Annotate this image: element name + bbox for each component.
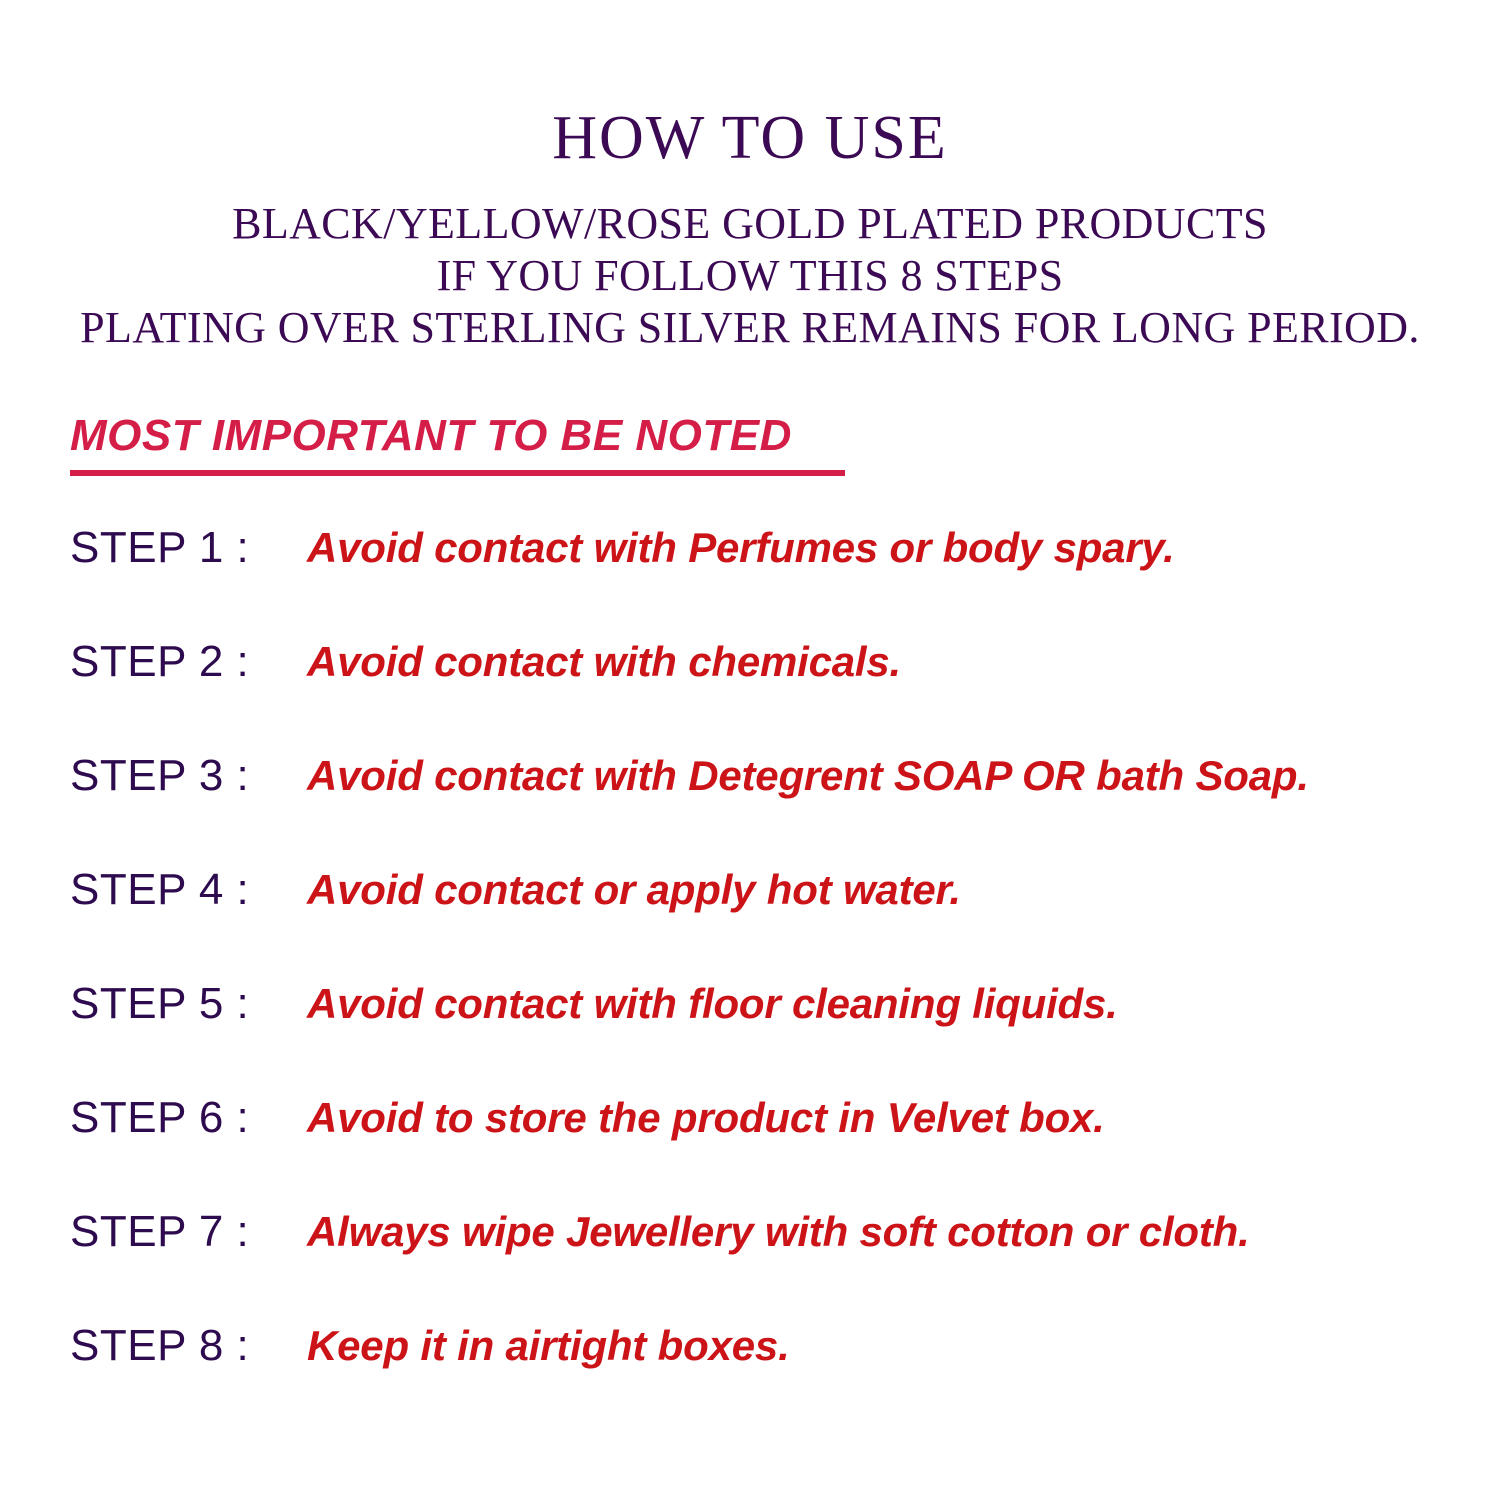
step-text-1: Avoid contact with Perfumes or body spar… [307, 521, 1175, 575]
step-label-8: STEP 8 : [70, 1319, 249, 1373]
subtitle-line-3: PLATING OVER STERLING SILVER REMAINS FOR… [0, 302, 1500, 354]
step-row: STEP 6 : Avoid to store the product in V… [70, 1091, 1470, 1205]
step-row: STEP 3 : Avoid contact with Detegrent SO… [70, 749, 1470, 863]
subtitle-line-1: BLACK/YELLOW/ROSE GOLD PLATED PRODUCTS [0, 198, 1500, 250]
step-label-7: STEP 7 : [70, 1205, 249, 1259]
step-row: STEP 4 : Avoid contact or apply hot wate… [70, 863, 1470, 977]
document-header: HOW TO USE BLACK/YELLOW/ROSE GOLD PLATED… [0, 100, 1500, 354]
step-text-3: Avoid contact with Detegrent SOAP OR bat… [307, 749, 1309, 803]
step-label-6: STEP 6 : [70, 1091, 249, 1145]
step-text-5: Avoid contact with floor cleaning liquid… [307, 977, 1118, 1031]
step-row: STEP 8 : Keep it in airtight boxes. [70, 1319, 1470, 1433]
step-text-2: Avoid contact with chemicals. [307, 635, 901, 689]
step-text-8: Keep it in airtight boxes. [307, 1319, 790, 1373]
step-label-2: STEP 2 : [70, 635, 249, 689]
subtitle-line-2: IF YOU FOLLOW THIS 8 STEPS [0, 250, 1500, 302]
step-label-1: STEP 1 : [70, 521, 249, 575]
subtitle-block: BLACK/YELLOW/ROSE GOLD PLATED PRODUCTS I… [0, 198, 1500, 354]
step-label-5: STEP 5 : [70, 977, 249, 1031]
step-row: STEP 7 : Always wipe Jewellery with soft… [70, 1205, 1470, 1319]
step-label-4: STEP 4 : [70, 863, 249, 917]
steps-list: STEP 1 : Avoid contact with Perfumes or … [70, 521, 1470, 1433]
step-row: STEP 1 : Avoid contact with Perfumes or … [70, 521, 1470, 635]
page-title: HOW TO USE [0, 100, 1500, 176]
step-label-3: STEP 3 : [70, 749, 249, 803]
notice-heading: MOST IMPORTANT TO BE NOTED [70, 410, 792, 468]
step-text-7: Always wipe Jewellery with soft cotton o… [307, 1205, 1250, 1259]
how-to-use-document: HOW TO USE BLACK/YELLOW/ROSE GOLD PLATED… [0, 0, 1500, 1500]
step-text-4: Avoid contact or apply hot water. [307, 863, 961, 917]
notice-heading-block: MOST IMPORTANT TO BE NOTED [70, 410, 845, 476]
notice-underline [70, 470, 845, 476]
step-row: STEP 2 : Avoid contact with chemicals. [70, 635, 1470, 749]
step-text-6: Avoid to store the product in Velvet box… [307, 1091, 1105, 1145]
step-row: STEP 5 : Avoid contact with floor cleani… [70, 977, 1470, 1091]
